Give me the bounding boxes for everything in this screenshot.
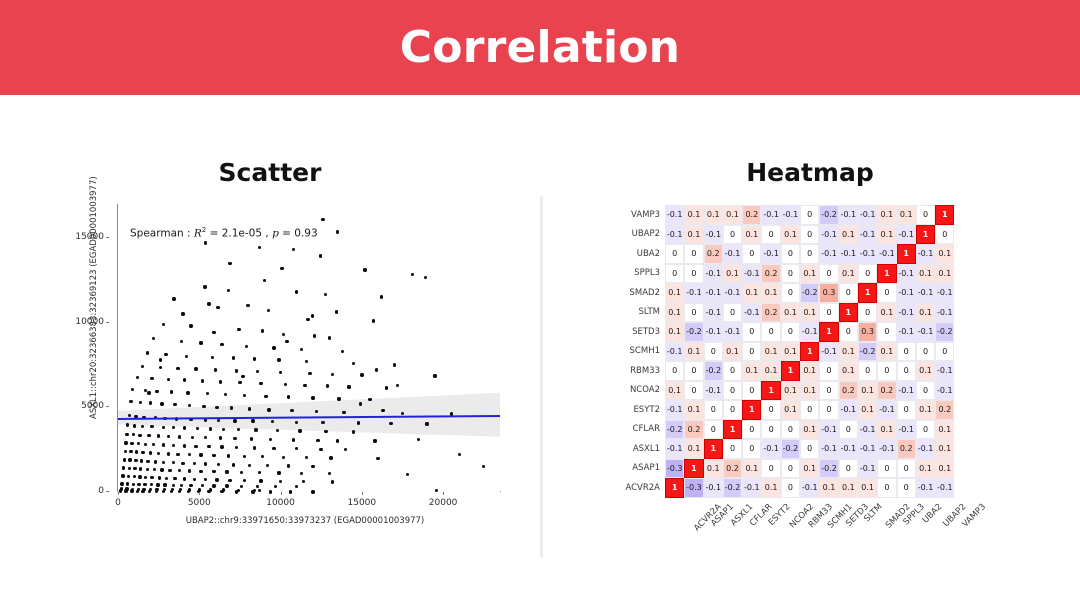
heatmap-cell[interactable]: 0.1 — [800, 303, 819, 323]
heatmap-cell[interactable]: 0.1 — [665, 322, 684, 342]
heatmap-cell[interactable]: -0.1 — [800, 322, 819, 342]
heatmap-cell[interactable]: -0.1 — [935, 361, 954, 381]
scatter-point — [328, 336, 331, 339]
scatter-point — [248, 407, 251, 410]
heatmap-cell[interactable]: 0 — [897, 400, 916, 420]
heatmap-cell[interactable]: -0.1 — [704, 283, 723, 303]
heatmap-cell[interactable]: -0.1 — [742, 478, 761, 498]
heatmap-cell[interactable]: -0.2 — [781, 439, 800, 459]
heatmap-cell[interactable]: 0.1 — [800, 264, 819, 284]
heatmap-cell[interactable]: 0.1 — [684, 439, 703, 459]
heatmap-cell[interactable]: 0.1 — [858, 478, 877, 498]
scatter-point — [269, 490, 272, 493]
heatmap-cell[interactable]: 0.1 — [781, 225, 800, 245]
heatmap-cell[interactable]: 1 — [723, 420, 742, 440]
scatter-x-tick: 10000 — [256, 498, 306, 508]
scatter-point — [360, 373, 363, 376]
scatter-point — [258, 246, 261, 249]
scatter-point — [138, 475, 141, 478]
scatter-point — [233, 437, 236, 440]
heatmap-cell[interactable]: 0.1 — [704, 459, 723, 479]
heatmap-cell[interactable]: 0 — [877, 322, 896, 342]
scatter-point — [372, 319, 375, 322]
heatmap-row: SLTM0.10-0.10-0.10.20.10.10100.1-0.10.1-… — [665, 303, 954, 323]
heatmap-cell[interactable]: 0.1 — [877, 303, 896, 323]
heatmap-cell[interactable]: 0 — [665, 244, 684, 264]
heatmap-cell[interactable]: 0 — [781, 244, 800, 264]
heatmap-cell[interactable]: 0 — [858, 264, 877, 284]
heatmap-cell[interactable]: 0 — [781, 420, 800, 440]
heatmap-cell[interactable]: -0.1 — [935, 303, 954, 323]
heatmap-row: ASAP1-0.310.10.20.1000.1-0.20-0.1000.10.… — [665, 459, 954, 479]
heatmap-cell[interactable]: 0.1 — [761, 478, 780, 498]
heatmap-cell[interactable]: -0.1 — [665, 225, 684, 245]
heatmap-cell[interactable]: 0 — [684, 361, 703, 381]
heatmap-cell[interactable]: 0 — [877, 361, 896, 381]
scatter-point — [303, 384, 306, 387]
heatmap-cell[interactable]: -0.1 — [858, 439, 877, 459]
heatmap-cell[interactable]: 0 — [916, 420, 935, 440]
heatmap-cell[interactable]: 1 — [916, 225, 935, 245]
heatmap-cell[interactable]: -0.1 — [819, 244, 838, 264]
scatter-point — [129, 400, 132, 403]
heatmap-row: UBA2000.2-0.10-0.100-0.1-0.1-0.1-0.11-0.… — [665, 244, 954, 264]
scatter-point — [140, 459, 143, 462]
scatter-point — [199, 453, 202, 456]
heatmap-cell[interactable]: -0.1 — [839, 400, 858, 420]
heatmap-cell[interactable]: 1 — [684, 459, 703, 479]
heatmap-cell[interactable]: -0.1 — [858, 225, 877, 245]
heatmap-row-label: UBA2 — [603, 244, 665, 264]
heatmap-cell[interactable]: -0.1 — [704, 381, 723, 401]
heatmap-row-label: NCOA2 — [603, 381, 665, 401]
heatmap-cell[interactable]: -0.1 — [897, 283, 916, 303]
heatmap-cell[interactable]: 0 — [704, 400, 723, 420]
heatmap-cell[interactable]: 0.1 — [858, 400, 877, 420]
heatmap-cell[interactable]: -0.1 — [935, 478, 954, 498]
heatmap-cell[interactable]: 0 — [704, 342, 723, 362]
heatmap-cell[interactable]: -0.1 — [665, 342, 684, 362]
heatmap-cell[interactable]: 0 — [723, 361, 742, 381]
heatmap-cell[interactable]: 0 — [819, 381, 838, 401]
heatmap-cell[interactable]: -0.1 — [839, 244, 858, 264]
heatmap-cell[interactable]: 0.1 — [665, 381, 684, 401]
heatmap-cell[interactable]: -0.1 — [897, 322, 916, 342]
heatmap-cell[interactable]: -0.1 — [704, 322, 723, 342]
heatmap-cell[interactable]: 0 — [742, 342, 761, 362]
heatmap-row-label: ASXL1 — [603, 439, 665, 459]
heatmap-cell[interactable]: -0.1 — [839, 205, 858, 225]
heatmap-cell[interactable]: 0.1 — [781, 381, 800, 401]
heatmap-cell[interactable]: 0 — [742, 381, 761, 401]
heatmap-cell[interactable]: 0 — [800, 400, 819, 420]
heatmap-cell[interactable]: 0.1 — [877, 342, 896, 362]
scatter-point — [341, 350, 344, 353]
heatmap-cell[interactable]: 0 — [781, 264, 800, 284]
heatmap-cell[interactable]: -0.1 — [916, 283, 935, 303]
heatmap-row: NCOA20.10-0.10010.10.100.20.10.2-0.10-0.… — [665, 381, 954, 401]
scatter-point — [130, 489, 133, 492]
scatter-point — [189, 484, 192, 487]
heatmap-cell[interactable]: 0.1 — [723, 264, 742, 284]
scatter-point — [146, 351, 149, 354]
scatter-point — [170, 390, 173, 393]
heatmap-cell[interactable]: 0 — [800, 205, 819, 225]
heatmap-cell[interactable]: 0 — [800, 244, 819, 264]
heatmap-cell[interactable]: -0.1 — [935, 381, 954, 401]
scatter-point — [121, 474, 124, 477]
scatter-x-tick: 5000 — [174, 498, 224, 508]
heatmap-cell[interactable]: 0 — [935, 342, 954, 362]
heatmap-cell[interactable]: 0.1 — [781, 400, 800, 420]
heatmap-cell[interactable]: 0.2 — [839, 381, 858, 401]
heatmap-cell[interactable]: 0.2 — [877, 381, 896, 401]
scatter-point — [147, 391, 150, 394]
heatmap-cell[interactable]: 0.1 — [916, 361, 935, 381]
heatmap-cell[interactable]: 0 — [742, 420, 761, 440]
heatmap-cell[interactable]: -0.1 — [877, 439, 896, 459]
heatmap-cell[interactable]: -0.1 — [704, 303, 723, 323]
heatmap-cell[interactable]: 0 — [897, 459, 916, 479]
heatmap-cell[interactable]: 0 — [897, 342, 916, 362]
scatter-point — [183, 444, 186, 447]
heatmap-cell[interactable]: 1 — [665, 478, 684, 498]
scatter-point — [272, 447, 275, 450]
scatter-x-axis-label: UBAP2::chr9:33971650:33973237 (EGAD00001… — [110, 516, 500, 526]
heatmap-cell[interactable]: 0 — [897, 478, 916, 498]
heatmap-cell[interactable]: 0.1 — [819, 478, 838, 498]
heatmap-cell[interactable]: -0.2 — [723, 478, 742, 498]
heatmap-cell[interactable]: 0.1 — [935, 420, 954, 440]
heatmap-cell[interactable]: -0.1 — [665, 439, 684, 459]
heatmap-cell[interactable]: 0 — [761, 322, 780, 342]
heatmap-cell[interactable]: -0.1 — [723, 322, 742, 342]
heatmap-cell[interactable]: -0.1 — [800, 478, 819, 498]
heatmap-cell[interactable]: 0.1 — [684, 400, 703, 420]
heatmap-cell[interactable]: -0.2 — [684, 322, 703, 342]
heatmap-cell[interactable]: 0 — [839, 420, 858, 440]
heatmap-cell[interactable]: -0.1 — [704, 264, 723, 284]
heatmap-cell[interactable]: 0 — [742, 322, 761, 342]
scatter-point — [143, 483, 146, 486]
heatmap-cell[interactable]: 1 — [877, 264, 896, 284]
heatmap-cell[interactable]: 0.1 — [665, 283, 684, 303]
heatmap-cell[interactable]: 1 — [781, 361, 800, 381]
scatter-point — [207, 445, 210, 448]
heatmap-cell[interactable]: 0.1 — [935, 244, 954, 264]
heatmap-cell[interactable]: -0.1 — [704, 478, 723, 498]
scatter-point — [352, 430, 355, 433]
scatter-point — [336, 230, 339, 233]
scatter-point — [201, 379, 204, 382]
heatmap-cell[interactable]: -0.1 — [819, 420, 838, 440]
heatmap-cell[interactable]: -0.1 — [935, 283, 954, 303]
heatmap-cell[interactable]: 0.1 — [839, 264, 858, 284]
heatmap-cell[interactable]: 0.1 — [935, 439, 954, 459]
heatmap-cell[interactable]: 0.3 — [858, 322, 877, 342]
heatmap-cell[interactable]: 0.2 — [742, 205, 761, 225]
heatmap-cell[interactable]: 0 — [704, 420, 723, 440]
heatmap-cell[interactable]: 0.1 — [839, 342, 858, 362]
header-banner: Correlation — [0, 0, 1080, 95]
scatter-point — [130, 442, 133, 445]
heatmap-cell[interactable]: 1 — [704, 439, 723, 459]
heatmap-cell[interactable]: 0 — [781, 322, 800, 342]
heatmap-cell[interactable]: -0.1 — [916, 439, 935, 459]
scatter-annotation: Spearman : R2 = 2.1e-05 , p = 0.93 — [130, 226, 318, 240]
heatmap-cell[interactable]: 0.1 — [665, 303, 684, 323]
heatmap-cell[interactable]: 0 — [781, 459, 800, 479]
heatmap-cell[interactable]: -0.1 — [742, 264, 761, 284]
scatter-point — [433, 374, 436, 377]
heatmap-cell[interactable]: -0.1 — [761, 244, 780, 264]
heatmap-row: UBAP2-0.10.1-0.100.100.10-0.10.1-0.10.1-… — [665, 225, 954, 245]
heatmap-cell[interactable]: 0 — [839, 283, 858, 303]
heatmap-cell[interactable]: -0.1 — [916, 244, 935, 264]
heatmap-cell[interactable]: 1 — [839, 303, 858, 323]
heatmap-cell[interactable]: -0.1 — [665, 400, 684, 420]
heatmap-cell[interactable]: -0.1 — [897, 303, 916, 323]
scatter-point — [172, 297, 175, 300]
heatmap-cell[interactable]: 0 — [742, 439, 761, 459]
scatter-point — [172, 444, 175, 447]
heatmap-cell[interactable]: 0.1 — [781, 303, 800, 323]
heatmap-cell[interactable]: 0.1 — [742, 283, 761, 303]
heatmap-cell[interactable]: -0.1 — [916, 322, 935, 342]
scatter-point — [380, 295, 383, 298]
heatmap-cell[interactable]: 0.2 — [761, 264, 780, 284]
scatter-point — [331, 480, 334, 483]
heatmap-cell[interactable]: -0.1 — [819, 342, 838, 362]
heatmap-cell[interactable]: 0.2 — [897, 439, 916, 459]
heatmap-cell[interactable]: -0.1 — [858, 420, 877, 440]
heatmap-cell[interactable]: 0.1 — [800, 361, 819, 381]
heatmap-cell[interactable]: 0.1 — [723, 205, 742, 225]
heatmap-cell[interactable]: 0.2 — [684, 420, 703, 440]
heatmap-cell[interactable]: 0 — [916, 342, 935, 362]
heatmap-cell[interactable]: -0.2 — [704, 361, 723, 381]
heatmap-cell[interactable]: -0.1 — [858, 244, 877, 264]
heatmap-cell[interactable]: 1 — [858, 283, 877, 303]
heatmap-cell[interactable]: 0 — [819, 303, 838, 323]
heatmap-cell[interactable]: -0.1 — [684, 283, 703, 303]
heatmap-cell[interactable]: -0.1 — [839, 439, 858, 459]
heatmap-cell[interactable]: -0.2 — [935, 322, 954, 342]
heatmap-cell[interactable]: 0 — [665, 361, 684, 381]
heatmap-cell[interactable]: -0.1 — [858, 459, 877, 479]
heatmap-cell[interactable]: 0 — [761, 420, 780, 440]
heatmap-cell[interactable]: 0.1 — [839, 361, 858, 381]
heatmap-cell[interactable]: 0 — [935, 225, 954, 245]
heatmap-cell[interactable]: 0 — [839, 459, 858, 479]
scatter-point — [119, 489, 122, 492]
heatmap-cell[interactable]: 0.1 — [800, 420, 819, 440]
heatmap-cell[interactable]: -0.1 — [781, 205, 800, 225]
heatmap-cell[interactable]: 0 — [858, 361, 877, 381]
scatter-point — [136, 490, 139, 493]
heatmap-cell[interactable]: 0.1 — [935, 459, 954, 479]
heatmap-cell[interactable]: 0.2 — [761, 303, 780, 323]
heatmap-cell[interactable]: -0.3 — [665, 459, 684, 479]
scatter-point — [264, 395, 267, 398]
heatmap-cell[interactable]: 0 — [819, 264, 838, 284]
heatmap-cell[interactable]: 0.2 — [704, 244, 723, 264]
scatter-point — [134, 459, 137, 462]
heatmap-cell[interactable]: 0.1 — [897, 205, 916, 225]
heatmap-cell[interactable]: 1 — [742, 400, 761, 420]
heatmap-cell[interactable]: 1 — [761, 381, 780, 401]
heatmap-cell[interactable]: 0.1 — [877, 420, 896, 440]
scatter-point — [167, 452, 170, 455]
heatmap-cell[interactable]: -0.1 — [897, 264, 916, 284]
heatmap-cell[interactable]: 0.1 — [742, 361, 761, 381]
heatmap-cell[interactable]: 0 — [684, 303, 703, 323]
heatmap-cell[interactable]: 1 — [800, 342, 819, 362]
heatmap-row-label: ASAP1 — [603, 459, 665, 479]
heatmap-cell[interactable]: 0.1 — [916, 459, 935, 479]
heatmap-row-label: CFLAR — [603, 420, 665, 440]
heatmap-cell[interactable]: 0 — [723, 225, 742, 245]
heatmap-cell[interactable]: 0.1 — [781, 342, 800, 362]
heatmap-cell[interactable]: -0.1 — [723, 283, 742, 303]
heatmap-cell[interactable]: -0.2 — [800, 283, 819, 303]
heatmap-cell[interactable]: 0.1 — [684, 225, 703, 245]
heatmap-cell[interactable]: 0.1 — [742, 459, 761, 479]
scatter-point — [280, 267, 283, 270]
heatmap-cell[interactable]: 0 — [819, 400, 838, 420]
heatmap-cell[interactable]: 0 — [858, 303, 877, 323]
heatmap-cell[interactable]: 0 — [877, 283, 896, 303]
heatmap-cell[interactable]: 0 — [761, 459, 780, 479]
scatter-point — [220, 490, 223, 493]
heatmap-cell[interactable]: 0.1 — [839, 225, 858, 245]
heatmap-row: RBM3300-0.200.10.110.100.10000.1-0.1 — [665, 361, 954, 381]
heatmap-cell[interactable]: 0 — [800, 439, 819, 459]
scatter-point — [311, 314, 314, 317]
heatmap-cell[interactable]: 0 — [916, 381, 935, 401]
heatmap-row-label: RBM33 — [603, 361, 665, 381]
heatmap-cell[interactable]: -0.1 — [897, 381, 916, 401]
heatmap-cell[interactable]: 0.1 — [723, 342, 742, 362]
scatter-point — [329, 456, 332, 459]
heatmap-cell[interactable]: 0.2 — [723, 459, 742, 479]
heatmap-cell[interactable]: -0.1 — [897, 225, 916, 245]
heatmap-cell[interactable]: 1 — [819, 322, 838, 342]
heatmap-cell[interactable]: 0.1 — [858, 381, 877, 401]
heatmap-cell[interactable]: -0.1 — [819, 225, 838, 245]
heatmap-cell[interactable]: 0.1 — [935, 264, 954, 284]
scatter-point — [335, 310, 338, 313]
heatmap-cell[interactable]: 0 — [897, 361, 916, 381]
scatter-point — [155, 490, 158, 493]
heatmap-cell[interactable]: 0 — [684, 381, 703, 401]
heatmap-cell[interactable]: 0.1 — [761, 283, 780, 303]
scatter-point — [381, 409, 384, 412]
scatter-point — [181, 462, 184, 465]
scatter-point — [359, 402, 362, 405]
scatter-point — [215, 478, 218, 481]
scatter-point — [209, 427, 212, 430]
heatmap-cell[interactable]: 0.1 — [800, 459, 819, 479]
heatmap-cell[interactable]: -0.1 — [742, 303, 761, 323]
heatmap-cell[interactable]: 0 — [742, 244, 761, 264]
heatmap-cell[interactable]: 0.1 — [761, 361, 780, 381]
heatmap-cell[interactable]: 1 — [897, 244, 916, 264]
heatmap-cell[interactable]: 0.1 — [684, 205, 703, 225]
heatmap-cell[interactable]: -0.2 — [819, 459, 838, 479]
heatmap-cell[interactable]: 0.1 — [916, 400, 935, 420]
heatmap-cell[interactable]: -0.1 — [916, 478, 935, 498]
heatmap-cell[interactable]: -0.1 — [897, 420, 916, 440]
heatmap-cell[interactable]: 0.2 — [935, 400, 954, 420]
heatmap-cell[interactable]: 0.1 — [800, 381, 819, 401]
heatmap-cell[interactable]: 0.1 — [877, 225, 896, 245]
heatmap-cell[interactable]: 0 — [723, 439, 742, 459]
heatmap-cell[interactable]: 0.3 — [819, 283, 838, 303]
scatter-point — [393, 363, 396, 366]
heatmap-cell[interactable]: 0 — [839, 322, 858, 342]
heatmap-cell[interactable]: 0 — [781, 478, 800, 498]
heatmap-cell[interactable]: 0 — [684, 264, 703, 284]
heatmap-cell[interactable]: -0.1 — [761, 205, 780, 225]
heatmap-cell[interactable]: 0.1 — [684, 342, 703, 362]
heatmap-cell[interactable]: 0.1 — [742, 225, 761, 245]
heatmap-cell[interactable]: -0.1 — [761, 439, 780, 459]
scatter-point — [187, 490, 190, 493]
heatmap-cell[interactable]: 0 — [800, 225, 819, 245]
scatter-point — [235, 490, 238, 493]
scatter-point — [225, 484, 228, 487]
heatmap-cell[interactable]: -0.1 — [877, 244, 896, 264]
heatmap-cell[interactable]: 0 — [819, 361, 838, 381]
heatmap-cell[interactable]: 0 — [723, 381, 742, 401]
scatter-point — [159, 358, 162, 361]
heatmap-cell[interactable]: 0 — [665, 264, 684, 284]
heatmap-cell[interactable]: 0.1 — [839, 478, 858, 498]
heatmap-cell[interactable]: 0 — [761, 225, 780, 245]
scatter-point — [207, 302, 210, 305]
heatmap-cell[interactable]: -0.1 — [819, 439, 838, 459]
heatmap-cell[interactable]: -0.2 — [819, 205, 838, 225]
heatmap-cell[interactable]: -0.2 — [665, 420, 684, 440]
heatmap-row-label: SMAD2 — [603, 283, 665, 303]
heatmap-cell[interactable]: 0 — [877, 459, 896, 479]
heatmap-cell[interactable]: -0.1 — [877, 400, 896, 420]
heatmap-cell[interactable]: 0 — [723, 303, 742, 323]
heatmap-cell[interactable]: 0.1 — [877, 205, 896, 225]
heatmap-cell[interactable]: -0.1 — [858, 205, 877, 225]
heatmap-cell[interactable]: 0 — [877, 478, 896, 498]
heatmap-cell[interactable]: 0 — [781, 283, 800, 303]
heatmap-cell[interactable]: -0.1 — [665, 205, 684, 225]
heatmap-cell[interactable]: -0.3 — [684, 478, 703, 498]
heatmap-cell[interactable]: -0.2 — [858, 342, 877, 362]
heatmap-cell[interactable]: 0 — [916, 205, 935, 225]
scatter-point — [148, 490, 151, 493]
heatmap-cell[interactable]: 0.1 — [761, 342, 780, 362]
heatmap-cell[interactable]: -0.1 — [723, 244, 742, 264]
heatmap-cell[interactable]: 0.1 — [704, 205, 723, 225]
heatmap-cell[interactable]: 0.1 — [916, 264, 935, 284]
scatter-point — [207, 490, 210, 493]
scatter-point — [289, 490, 292, 493]
heatmap-cell[interactable]: 0 — [684, 244, 703, 264]
heatmap-cell[interactable]: 0 — [723, 400, 742, 420]
heatmap-cell[interactable]: 1 — [935, 205, 954, 225]
heatmap-cell[interactable]: 0.1 — [916, 303, 935, 323]
heatmap-cell[interactable]: -0.1 — [704, 225, 723, 245]
heatmap-cell[interactable]: 0 — [761, 400, 780, 420]
